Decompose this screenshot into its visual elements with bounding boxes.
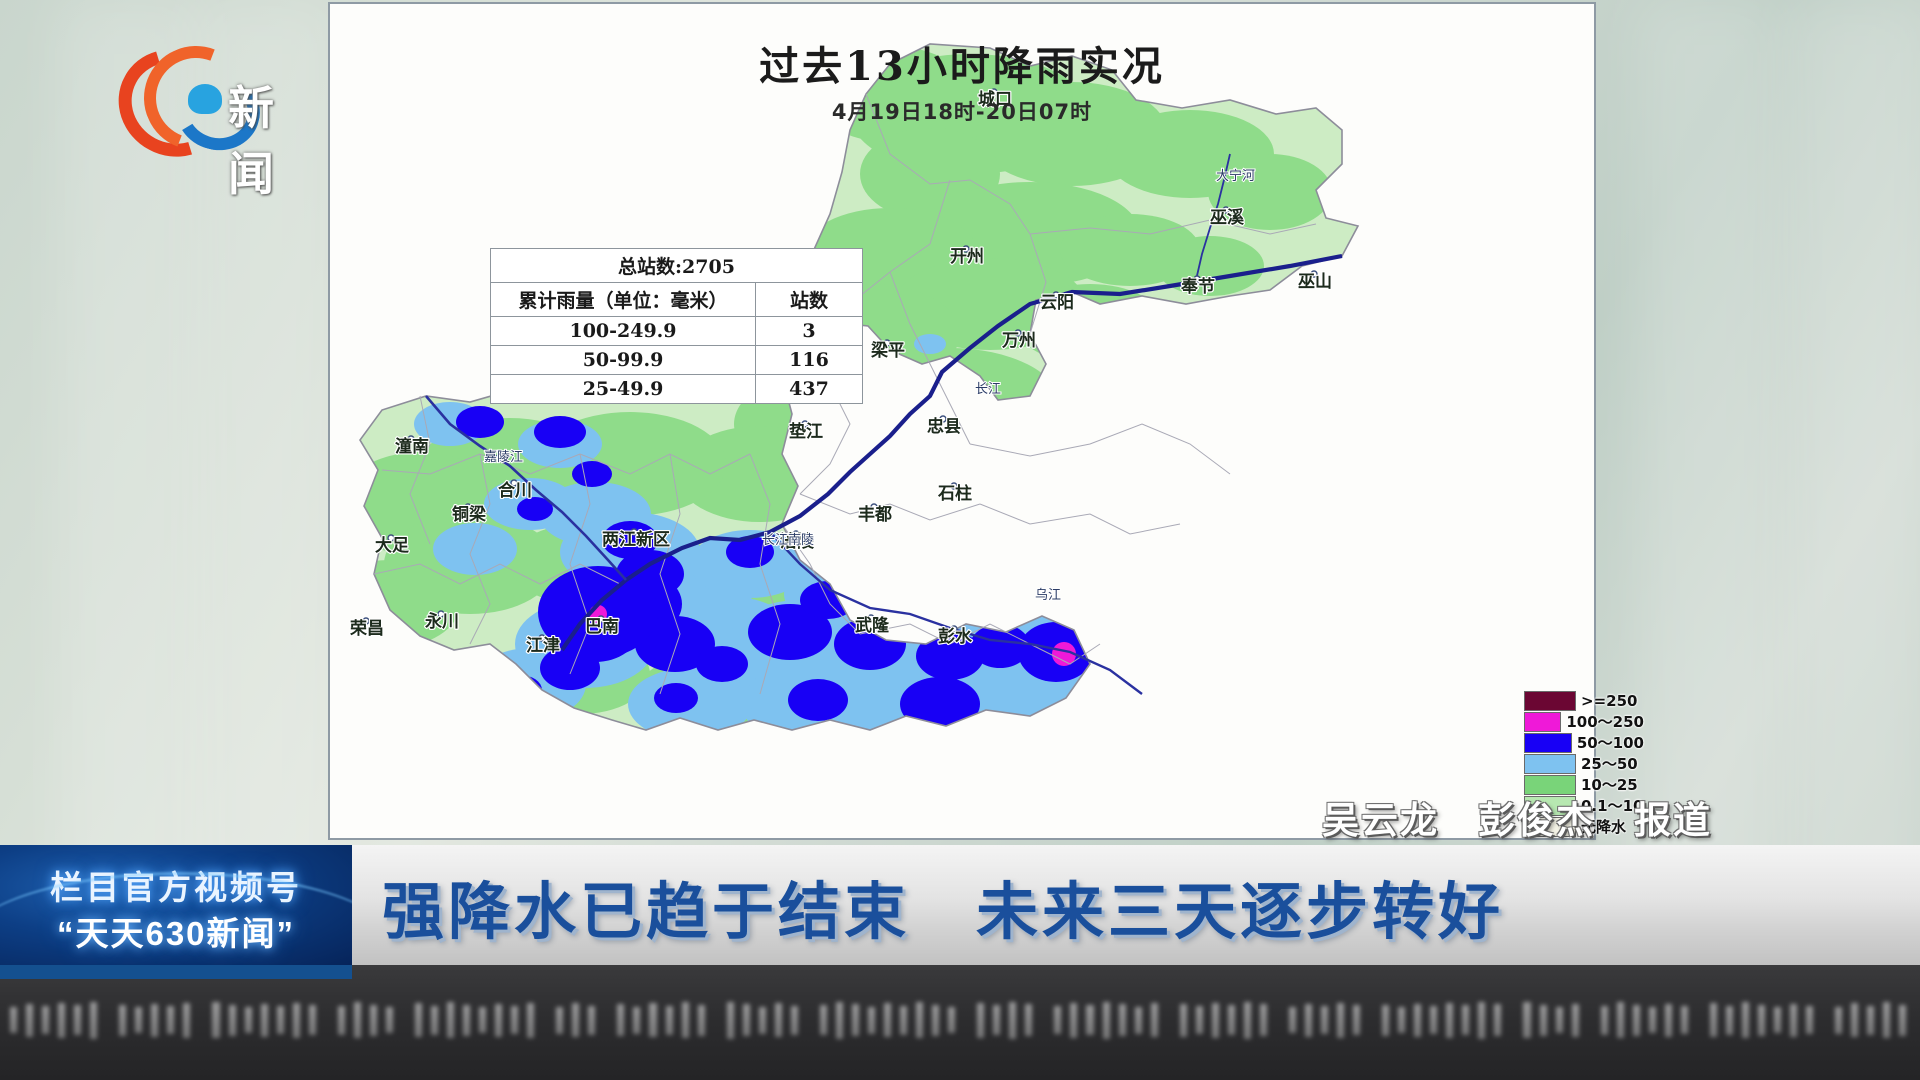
- city-label: 武隆: [855, 615, 890, 636]
- ticker-glyph: [617, 1004, 624, 1036]
- ticker-glyph: [58, 1003, 65, 1038]
- lower-third: 栏目官方视频号 “天天630新闻” 强降水已趋于结束 未来三天逐步转好: [0, 845, 1920, 965]
- ticker-glyph: [431, 1006, 438, 1035]
- ticker-glyph: [1353, 1005, 1360, 1035]
- ticker-glyph: [338, 1006, 345, 1035]
- ticker-glyph: [354, 1002, 361, 1038]
- ticker-glyph: [1305, 1004, 1312, 1037]
- ticker-gap: [1822, 1003, 1826, 1037]
- ticker-glyph: [1382, 1005, 1389, 1036]
- ticker-glyph: [900, 1006, 907, 1035]
- river-label: 嘉陵江: [484, 450, 523, 465]
- ticker-glyph: [1244, 1002, 1251, 1039]
- city-label: 石柱: [937, 483, 972, 504]
- ticker-accent-bar: [0, 965, 352, 979]
- cell-count: 116: [756, 346, 863, 375]
- ticker-glyph: [527, 1003, 534, 1038]
- ticker-glyph: [183, 1003, 190, 1038]
- map-title: 过去13小时降雨实况: [330, 34, 1594, 92]
- ticker-glyph: [1649, 1007, 1656, 1033]
- ticker-gap: [964, 1003, 968, 1037]
- ticker-glyph: [1054, 1006, 1061, 1034]
- ticker-glyph: [556, 1007, 563, 1034]
- ticker-glyph: [1806, 1006, 1813, 1034]
- city-label: 巫山: [1298, 272, 1332, 292]
- ticker-glyph: [1289, 1007, 1296, 1033]
- ticker-gap: [106, 1003, 110, 1037]
- ticker-gap: [199, 1003, 203, 1037]
- ticker-glyph: [1478, 1002, 1485, 1039]
- ticker-gap: [1167, 1003, 1171, 1037]
- ticker-glyph: [90, 1002, 97, 1039]
- map-subtitle: 4月19日18时-20日07时: [330, 96, 1594, 126]
- ticker-glyph: [1414, 1004, 1421, 1037]
- ticker-glyph: [1523, 1002, 1530, 1038]
- cell-count: 3: [756, 317, 863, 346]
- ticker-gap: [1041, 1003, 1045, 1037]
- cell-range: 25-49.9: [491, 375, 756, 404]
- map-svg: 城口巫溪巫山奉节大宁河开州云阳万州梁平垫江忠县长江石柱丰都涪陵长江南陵乌江武隆彭…: [330, 4, 1598, 842]
- river-label: 大宁河: [1216, 168, 1255, 184]
- ticker-glyph: [1710, 1003, 1717, 1037]
- legend-row: >=250: [1524, 690, 1644, 711]
- ticker-glyph: [1135, 1007, 1142, 1034]
- table-row: 25-49.9 437: [491, 375, 863, 404]
- ticker-gap: [402, 1003, 406, 1037]
- cell-count: 437: [756, 375, 863, 404]
- ticker-gap: [604, 1003, 608, 1037]
- ticker-glyph: [1617, 1002, 1624, 1038]
- ticker-glyph: [977, 1003, 984, 1038]
- map-panel: 城口巫溪巫山奉节大宁河开州云阳万州梁平垫江忠县长江石柱丰都涪陵长江南陵乌江武隆彭…: [328, 2, 1596, 840]
- ticker-glyph: [1556, 1007, 1563, 1033]
- ticker-glyph: [245, 1007, 252, 1033]
- ticker-glyph: [993, 1005, 1000, 1035]
- ticker-glyph: [1398, 1007, 1405, 1033]
- channel-logo: 新闻: [110, 44, 320, 130]
- ticker-gap: [1915, 1003, 1919, 1037]
- river-label: 长江南陵: [762, 532, 814, 548]
- ticker-glyph: [1119, 1004, 1126, 1036]
- ticker-glyph: [1883, 1002, 1890, 1038]
- ticker-glyph: [1540, 1005, 1547, 1036]
- ticker-glyph: [916, 1002, 923, 1038]
- ticker-glyph: [1572, 1004, 1579, 1037]
- news-ticker: [0, 965, 1920, 1080]
- headline-text: 强降水已趋于结束 未来三天逐步转好: [382, 861, 1504, 951]
- ticker-glyph: [1742, 1002, 1749, 1038]
- legend-label: 25～50: [1581, 753, 1638, 774]
- legend-swatch: [1524, 733, 1572, 753]
- ticker-glyph: [212, 1002, 219, 1038]
- ticker-glyph: [1151, 1003, 1158, 1037]
- legend-label: >=250: [1581, 692, 1637, 710]
- ticker-glyph: [759, 1007, 766, 1034]
- ticker-gap: [1697, 1003, 1701, 1037]
- ticker-glyph: [1601, 1006, 1608, 1035]
- ticker-glyph: [698, 1005, 705, 1036]
- legend-swatch: [1524, 712, 1561, 732]
- ticker-glyph: [1025, 1004, 1032, 1036]
- ticker-glyph: [415, 1003, 422, 1037]
- ticker-gap: [1276, 1003, 1280, 1037]
- ticker-glyph: [727, 1002, 734, 1039]
- city-label: 铜梁: [452, 504, 487, 525]
- ticker-glyph: [1774, 1007, 1781, 1033]
- ticker-glyph: [1180, 1004, 1187, 1037]
- ticker-glyph: [293, 1003, 300, 1038]
- reporter-credit: 吴云龙 彭俊杰 报道: [1322, 790, 1712, 844]
- ticker-glyph: [932, 1005, 939, 1036]
- legend-swatch: [1524, 754, 1576, 774]
- channel-logo-text: 新闻: [228, 72, 320, 204]
- ticker-glyph: [1665, 1004, 1672, 1037]
- ticker-glyph: [386, 1007, 393, 1033]
- ticker-glyph: [1681, 1006, 1688, 1034]
- ticker-glyph: [1321, 1006, 1328, 1034]
- ticker-gap: [325, 1003, 329, 1037]
- city-label: 奉节: [1180, 276, 1215, 297]
- city-label: 潼南: [395, 436, 429, 457]
- city-label: 万州: [1001, 331, 1036, 351]
- city-label: 永川: [424, 611, 459, 632]
- ticker-glyph: [1790, 1004, 1797, 1037]
- ticker-glyph: [1633, 1005, 1640, 1036]
- ticker-glyph: [119, 1005, 126, 1036]
- ticker-scrolling-text: [10, 991, 1920, 1049]
- city-label: 开州: [950, 247, 984, 267]
- column-header-range: 累计雨量（单位：毫米）: [491, 283, 756, 317]
- ticker-glyph: [261, 1004, 268, 1037]
- cell-range: 100-249.9: [491, 317, 756, 346]
- ticker-glyph: [1196, 1006, 1203, 1034]
- ticker-glyph: [151, 1004, 158, 1037]
- city-label: 彭水: [938, 626, 973, 647]
- ticker-glyph: [588, 1006, 595, 1035]
- ticker-glyph: [167, 1006, 174, 1034]
- legend-row: 100～250: [1524, 711, 1644, 732]
- ticker-glyph: [791, 1006, 798, 1035]
- city-label: 忠县: [927, 416, 961, 437]
- ticker-glyph: [277, 1006, 284, 1034]
- ticker-glyph: [1851, 1003, 1858, 1037]
- legend-label: 100～250: [1566, 711, 1644, 732]
- ticker-glyph: [511, 1006, 518, 1034]
- logo-drop-icon: [188, 84, 222, 114]
- program-badge: 栏目官方视频号 “天天630新闻”: [0, 845, 352, 965]
- city-label: 合川: [498, 480, 532, 501]
- ticker-glyph: [1462, 1005, 1469, 1035]
- ticker-glyph: [572, 1003, 579, 1037]
- ticker-glyph: [633, 1007, 640, 1034]
- ticker-glyph: [1009, 1002, 1016, 1039]
- ticker-glyph: [1228, 1005, 1235, 1035]
- city-label: 垫江: [789, 421, 823, 442]
- table-row: 100-249.9 3: [491, 317, 863, 346]
- ticker-glyph: [1758, 1005, 1765, 1036]
- ticker-glyph: [1899, 1005, 1906, 1036]
- ticker-glyph: [370, 1005, 377, 1036]
- ticker-glyph: [463, 1005, 470, 1036]
- ticker-glyph: [1494, 1004, 1501, 1036]
- ticker-glyph: [1867, 1006, 1874, 1035]
- ticker-glyph: [775, 1003, 782, 1037]
- river-label: 长江: [975, 382, 1001, 397]
- ticker-glyph: [495, 1004, 502, 1037]
- ticker-glyph: [884, 1003, 891, 1037]
- ticker-glyph: [1103, 1002, 1110, 1039]
- badge-line-1: 栏目官方视频号: [0, 861, 352, 909]
- ticker-glyph: [649, 1003, 656, 1037]
- cell-range: 50-99.9: [491, 346, 756, 375]
- rainfall-stats-table: 总站数:2705 累计雨量（单位：毫米） 站数 100-249.9 3 50-9…: [490, 248, 863, 404]
- ticker-glyph: [1430, 1006, 1437, 1034]
- city-label: 江津: [526, 635, 560, 656]
- ticker-glyph: [666, 1006, 673, 1035]
- ticker-gap: [1588, 1003, 1592, 1037]
- legend-swatch: [1524, 691, 1576, 711]
- ticker-glyph: [1086, 1005, 1093, 1035]
- city-label: 云阳: [1040, 293, 1074, 313]
- ticker-gap: [543, 1003, 547, 1037]
- ticker-glyph: [10, 1007, 17, 1033]
- city-label: 巫溪: [1210, 208, 1245, 228]
- ticker-gap: [714, 1003, 718, 1037]
- total-stations-cell: 总站数:2705: [491, 249, 863, 283]
- rainfall-map: 城口巫溪巫山奉节大宁河开州云阳万州梁平垫江忠县长江石柱丰都涪陵长江南陵乌江武隆彭…: [330, 4, 1598, 842]
- badge-line-2: “天天630新闻”: [0, 907, 352, 955]
- ticker-glyph: [1212, 1003, 1219, 1038]
- ticker-glyph: [1726, 1006, 1733, 1035]
- ticker-glyph: [309, 1005, 316, 1035]
- ticker-glyph: [1070, 1003, 1077, 1038]
- city-label: 大足: [375, 535, 409, 556]
- ticker-glyph: [852, 1004, 859, 1036]
- ticker-glyph: [135, 1007, 142, 1033]
- table-header-row: 累计雨量（单位：毫米） 站数: [491, 283, 863, 317]
- legend-label: 50～100: [1577, 732, 1644, 753]
- ticker-glyph: [1446, 1003, 1453, 1038]
- ticker-gap: [1510, 1003, 1514, 1037]
- ticker-glyph: [743, 1004, 750, 1036]
- ticker-glyph: [229, 1005, 236, 1036]
- river-label: 乌江: [1035, 587, 1061, 603]
- headline-bar: 强降水已趋于结束 未来三天逐步转好: [352, 845, 1920, 965]
- legend-row: 25～50: [1524, 753, 1644, 774]
- column-header-count: 站数: [756, 283, 863, 317]
- city-label: 丰都: [858, 504, 892, 525]
- ticker-glyph: [868, 1007, 875, 1034]
- ticker-glyph: [836, 1002, 843, 1039]
- ticker-glyph: [26, 1004, 33, 1037]
- ticker-glyph: [42, 1006, 49, 1034]
- ticker-glyph: [1337, 1003, 1344, 1038]
- table-total-row: 总站数:2705: [491, 249, 863, 283]
- ticker-glyph: [682, 1002, 689, 1038]
- city-label: 梁平: [870, 340, 905, 361]
- ticker-glyph: [1260, 1004, 1267, 1036]
- ticker-glyph: [820, 1005, 827, 1035]
- table-row: 50-99.9 116: [491, 346, 863, 375]
- ticker-glyph: [447, 1002, 454, 1038]
- broadcast-screen: 新闻: [0, 0, 1920, 1080]
- ticker-gap: [807, 1003, 811, 1037]
- city-label: 荣昌: [349, 619, 384, 639]
- ticker-glyph: [479, 1007, 486, 1033]
- city-label: 巴南: [585, 616, 619, 637]
- ticker-glyph: [948, 1007, 955, 1033]
- city-label: 两江新区: [602, 529, 670, 550]
- legend-row: 50～100: [1524, 732, 1644, 753]
- ticker-gap: [1369, 1003, 1373, 1037]
- ticker-glyph: [1835, 1007, 1842, 1034]
- ticker-glyph: [74, 1005, 81, 1035]
